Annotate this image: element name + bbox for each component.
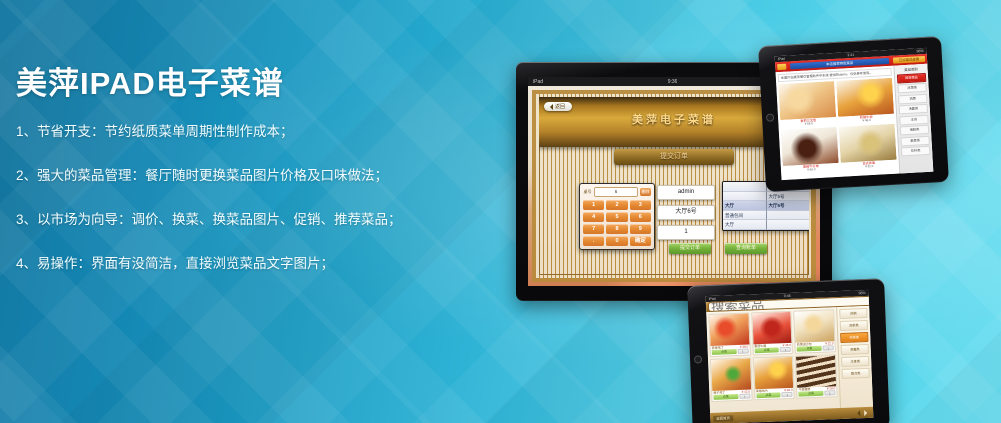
add-dish-button[interactable]: 点菜 <box>712 349 737 355</box>
dish-grid: 宫保鸡丁 ￥38.0 点菜 1 番茄牛腩 <box>708 309 837 402</box>
cell-table <box>767 211 810 221</box>
app-body: 本图片由美萍餐饮管理软件中系统 提供的demo，仅供参考使用。 香煎三文鱼 ￥6… <box>776 64 934 180</box>
status-carrier: iPad <box>778 57 785 61</box>
submit-order-button[interactable]: 提交订单 <box>669 243 711 254</box>
dish-image <box>796 355 836 387</box>
username-field[interactable]: admin <box>657 185 715 200</box>
sidebar-item-drinks[interactable]: 饮料类 <box>901 146 930 157</box>
category-sidebar: 热销 凉菜类 热菜类 汤羹类 主食类 甜点类 <box>836 306 873 408</box>
feature-bullet-2: 2、强大的菜品管理：餐厅随时更换菜品图片价格及口味做法； <box>16 168 446 184</box>
dish-grid: 香煎三文鱼 ￥68.0 彩椒牛柳 ￥48.0 黑椒牛仔骨 ￥88.0 <box>778 78 897 174</box>
dish-card[interactable]: 日式拌面 ￥32.0 <box>839 124 897 171</box>
quantity-stepper[interactable]: 1 <box>824 390 835 395</box>
keypad-key[interactable]: 3 <box>630 200 651 210</box>
cell-table: 大厅5号 <box>767 192 810 202</box>
menu-icon[interactable] <box>777 63 786 70</box>
dish-image <box>839 124 897 163</box>
add-dish-button[interactable]: 点菜 <box>756 392 781 398</box>
page-title: 美萍IPAD电子菜谱 <box>16 66 446 102</box>
status-battery: 96% <box>858 291 865 295</box>
sidebar-item-staple[interactable]: 主食 <box>899 114 928 125</box>
form-fields: admin 大厅6号 1 <box>657 185 715 245</box>
query-bill-button[interactable]: 查询账单 <box>725 243 767 254</box>
dish-card[interactable]: 奶黄流沙包 ￥22.0 点菜 1 <box>794 309 836 354</box>
keypad-key[interactable]: 7 <box>583 224 604 234</box>
dish-image <box>781 127 839 166</box>
add-dish-button[interactable]: 点菜 <box>754 347 779 353</box>
dish-image <box>752 312 792 344</box>
feature-bullet-1: 1、节省开支：节约纸质菜单周期性制作成本； <box>16 124 446 140</box>
keypad-confirm-key[interactable]: 确定 <box>630 236 651 246</box>
quantity-stepper[interactable]: 1 <box>780 347 791 352</box>
cart-button[interactable]: 已点菜品查看 <box>893 56 925 64</box>
quantity-stepper[interactable]: 1 <box>737 349 748 354</box>
home-link[interactable]: 返回首页 <box>713 415 733 422</box>
sidebar-title: 菜品类别 <box>896 66 925 73</box>
sidebar-item-soup[interactable]: 汤羹类 <box>841 344 869 355</box>
status-time: 9:36 <box>668 79 678 85</box>
dish-image <box>778 81 836 120</box>
table-row[interactable]: 大厅5号 <box>723 192 809 202</box>
dish-card[interactable]: 黑椒牛仔骨 ￥88.0 <box>781 127 839 174</box>
feature-bullet-4: 4、易操作：界面有没简洁，直接浏览菜品文字图片； <box>16 256 446 272</box>
sidebar-item-recommended[interactable]: 推荐菜品 <box>897 72 926 83</box>
keypad-key[interactable]: 4 <box>583 212 604 222</box>
sidebar-item-seafood[interactable]: 海鲜类 <box>900 125 929 136</box>
quantity-stepper[interactable]: 1 <box>782 392 793 397</box>
status-time: 9:45 <box>784 294 791 298</box>
dish-image <box>711 358 751 390</box>
dish-card[interactable]: 千层蛋糕 ￥28.0 点菜 1 <box>795 354 837 399</box>
keypad-label: 桌号 <box>583 189 592 195</box>
app-body: 宫保鸡丁 ￥38.0 点菜 1 番茄牛腩 <box>706 306 873 413</box>
dish-card[interactable]: 宫保鸡丁 ￥38.0 点菜 1 <box>708 312 750 357</box>
table-field[interactable]: 大厅6号 <box>657 205 715 220</box>
status-battery: 98% <box>916 49 923 53</box>
prev-page-icon[interactable] <box>854 410 860 416</box>
cell-area: 大厅 <box>723 220 767 230</box>
copy-block: 美萍IPAD电子菜谱 1、节省开支：节约纸质菜单周期性制作成本； 2、强大的菜品… <box>16 66 446 300</box>
sidebar-item-dessert[interactable]: 甜点类 <box>841 368 869 379</box>
sidebar-item-hot[interactable]: 热菜类 <box>840 332 868 343</box>
sidebar-item-hot[interactable]: 热菜 <box>898 93 927 104</box>
dish-card[interactable]: 番茄牛腩 ￥46.0 点菜 1 <box>751 311 793 356</box>
keypad-key[interactable]: 2 <box>606 200 627 210</box>
cell-area: 大厅 <box>723 201 767 211</box>
tablet-bottomright-device: iPad 9:45 96% 已点菜品 3 宫保鸡丁 <box>687 278 890 423</box>
keypad-key[interactable]: 1 <box>583 200 604 210</box>
count-field[interactable]: 1 <box>657 225 715 240</box>
numeric-keypad[interactable]: 桌号 6 删除 1 2 3 4 5 6 7 8 <box>579 183 655 250</box>
sidebar-item-staple[interactable]: 主食类 <box>841 356 869 367</box>
back-button[interactable]: 返回 <box>544 102 572 111</box>
status-carrier: iPad <box>533 79 543 85</box>
cell-area <box>723 192 767 202</box>
add-dish-button[interactable]: 点菜 <box>799 391 824 397</box>
dish-card[interactable]: 香煎三文鱼 ￥68.0 <box>778 81 836 128</box>
tablet-topright-screen: iPad 9:41 98% 本店推荐特色菜品 已点菜品查看 本图片由美萍餐饮管理… <box>775 48 934 180</box>
home-button-icon[interactable] <box>765 113 773 121</box>
table-row[interactable]: 普通包间 <box>723 211 809 221</box>
section-subtitle: 提交订单 <box>614 149 734 165</box>
dish-card[interactable]: 辣子鸡丁 ￥42.0 点菜 1 <box>710 357 752 402</box>
add-dish-button[interactable]: 点菜 <box>713 394 738 400</box>
backspace-key[interactable]: 删除 <box>640 188 651 196</box>
cell-table: 大厅6号 <box>767 201 810 211</box>
next-page-icon[interactable] <box>864 409 870 415</box>
sidebar-item-popular[interactable]: 热销 <box>839 308 867 319</box>
tablet-topright-device: iPad 9:41 98% 本店推荐特色菜品 已点菜品查看 本图片由美萍餐饮管理… <box>758 36 949 192</box>
keypad-key[interactable]: 8 <box>606 224 627 234</box>
cell-area: 普通包间 <box>723 211 767 221</box>
dish-card[interactable]: 青椒肉片 ￥36.0 点菜 1 <box>753 356 795 401</box>
sidebar-item-soup[interactable]: 汤羹类 <box>899 104 928 115</box>
category-sidebar: 菜品类别 推荐菜品 凉菜类 热菜 汤羹类 主食 海鲜类 素菜类 饮料类 <box>893 64 933 174</box>
cell-table <box>767 220 810 230</box>
sidebar-item-vegetable[interactable]: 素菜类 <box>900 135 929 146</box>
keypad-display: 6 <box>594 187 638 197</box>
dish-image <box>709 314 749 346</box>
add-dish-button[interactable]: 点菜 <box>797 346 822 352</box>
table-row[interactable]: 大厅 <box>723 220 809 230</box>
cell-area <box>723 182 767 192</box>
sidebar-item-cold[interactable]: 凉菜类 <box>897 83 926 94</box>
dish-image <box>754 357 794 389</box>
keypad-key[interactable]: 6 <box>630 212 651 222</box>
keypad-key[interactable]: 0 <box>606 236 627 246</box>
dish-card[interactable]: 彩椒牛柳 ￥48.0 <box>836 78 894 125</box>
feature-bullet-3: 3、以市场为向导：调价、换菜、换菜品图片、促销、推荐菜品； <box>16 212 446 228</box>
pagination-controls <box>854 409 870 416</box>
sidebar-item-cold[interactable]: 凉菜类 <box>840 320 868 331</box>
dish-image <box>836 78 894 117</box>
quantity-stepper[interactable]: 1 <box>823 345 834 350</box>
action-buttons: 提交订单 查询账单 <box>669 243 767 254</box>
dish-image <box>795 310 835 342</box>
status-carrier: iPad <box>709 297 716 301</box>
promo-banner: 美萍IPAD电子菜谱 1、节省开支：节约纸质菜单周期性制作成本； 2、强大的菜品… <box>0 0 1001 423</box>
keypad-key[interactable]: . <box>583 236 604 246</box>
quantity-stepper[interactable]: 1 <box>739 394 750 399</box>
table-row-selected[interactable]: 大厅 大厅6号 <box>723 201 809 211</box>
tablet-bottomright-screen: iPad 9:45 96% 已点菜品 3 宫保鸡丁 <box>706 290 874 423</box>
keypad-key[interactable]: 9 <box>630 224 651 234</box>
status-time: 9:41 <box>847 53 854 57</box>
keypad-key[interactable]: 5 <box>606 212 627 222</box>
home-button-icon[interactable] <box>694 355 702 363</box>
